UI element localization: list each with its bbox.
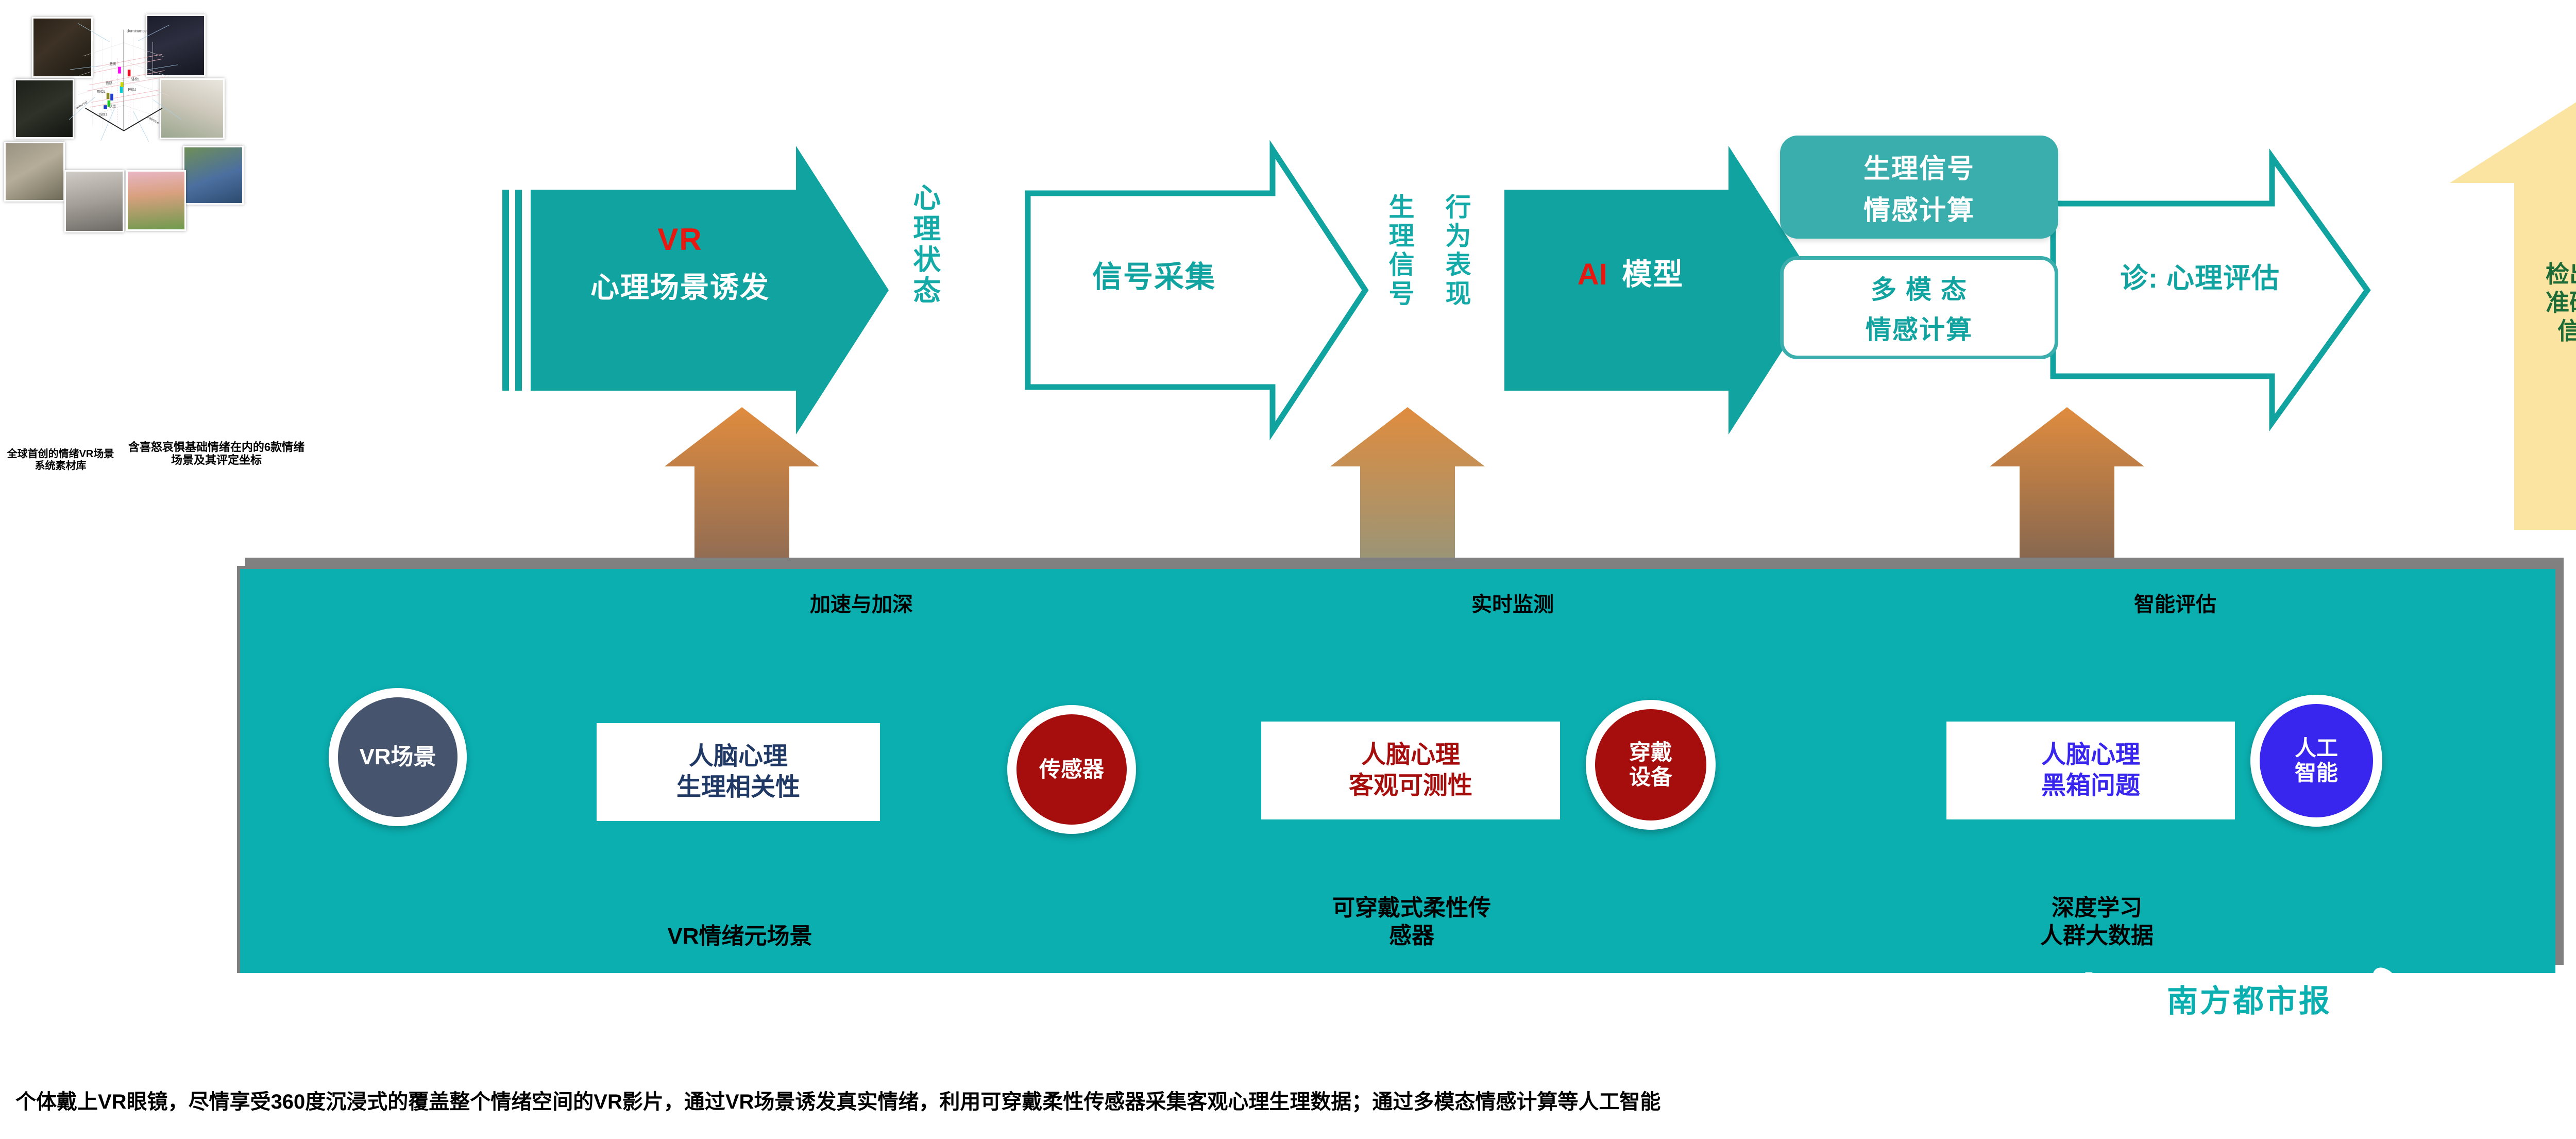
whitebox2-line2: 客观可测性 <box>1349 770 1472 801</box>
deeplearning-label-line1: 深度学习 <box>1947 894 2246 922</box>
whitebox-brain-physio-correlation[interactable]: 人脑心理 生理相关性 <box>597 723 880 821</box>
circle-artificial-intelligence[interactable]: 人工 智能 <box>2250 695 2382 827</box>
whitebox3-line1: 人脑心理 <box>2041 740 2140 770</box>
panel-bottom-label-vr-meta-scene: VR情绪元场景 <box>575 923 905 950</box>
whitebox-brain-objective-measurability[interactable]: 人脑心理 客观可测性 <box>1261 722 1560 819</box>
circle-ai-line2: 智能 <box>2295 761 2338 785</box>
bottom-caption: 个体戴上VR眼镜，尽情享受360度沉浸式的覆盖整个情绪空间的VR影片，通过VR场… <box>15 1085 2576 1115</box>
whitebox-brain-blackbox-problem[interactable]: 人脑心理 黑箱问题 <box>1946 722 2235 819</box>
whitebox1-line2: 生理相关性 <box>676 772 800 803</box>
nc-logo: NC/ <box>1989 961 2084 1031</box>
circle-wearable-line1: 穿戴 <box>1629 740 1672 765</box>
circle-vr-scene-label: VR场景 <box>359 744 436 770</box>
section-label-evaluate: 智能评估 <box>2134 588 2216 617</box>
wearable-label-line1: 可穿戴式柔性传 <box>1257 894 1566 922</box>
panel-bottom-label-deep-learning: 深度学习 人群大数据 <box>1947 894 2246 949</box>
whitebox3-line2: 黑箱问题 <box>2041 770 2140 801</box>
whitebox2-line1: 人脑心理 <box>1361 740 1460 770</box>
publisher-name: 南方都市报 <box>2167 984 2332 1018</box>
deeplearning-label-line2: 人群大数据 <box>1947 922 2246 950</box>
whitebox1-line1: 人脑心理 <box>689 741 788 772</box>
circle-vr-scene[interactable]: VR场景 <box>329 688 467 826</box>
circle-sensor-label: 传感器 <box>1039 757 1104 782</box>
circle-wearable-device[interactable]: 穿戴 设备 <box>1586 700 1716 830</box>
watermark-group: NC/ 南方都市报 N视频 <box>1989 953 2576 1036</box>
circle-ai-line1: 人工 <box>2295 736 2338 761</box>
n-video-logo-icon <box>2355 962 2438 1034</box>
panel-bottom-label-wearable-sensor: 可穿戴式柔性传 感器 <box>1257 894 1566 949</box>
video-brand-name: N视频 <box>2442 974 2537 1025</box>
section-label-monitor: 实时监测 <box>1471 588 1554 617</box>
section-label-accelerate: 加速与加深 <box>810 588 913 617</box>
circle-wearable-line2: 设备 <box>1629 765 1672 790</box>
wearable-label-line2: 感器 <box>1257 922 1566 950</box>
circle-sensor[interactable]: 传感器 <box>1007 705 1136 834</box>
